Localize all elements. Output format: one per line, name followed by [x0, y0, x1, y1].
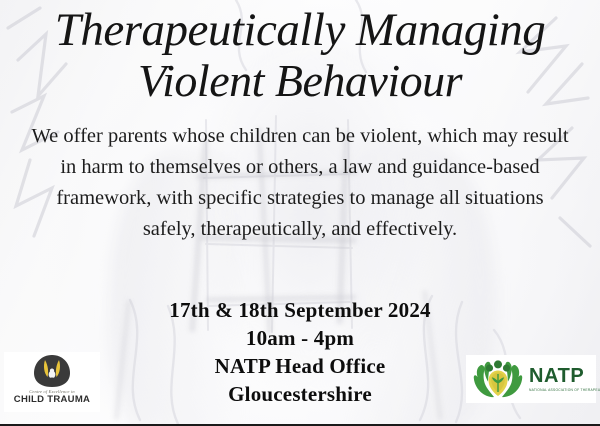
- natp-name: NATP: [529, 366, 600, 387]
- natp-text-block: NATP NATIONAL ASSOCIATION OF THERAPEUTIC…: [529, 366, 600, 393]
- title-line-2: Violent Behaviour: [0, 56, 600, 106]
- title-line-1: Therapeutically Managing: [0, 4, 600, 56]
- poster-title: Therapeutically Managing Violent Behavio…: [0, 4, 600, 106]
- logo-child-trauma: Centre of Excellence in CHILD TRAUMA: [4, 352, 100, 412]
- event-time: 10am - 4pm: [0, 324, 600, 352]
- event-date: 17th & 18th September 2024: [0, 296, 600, 324]
- poster-body-text: We offer parents whose children can be v…: [30, 121, 570, 245]
- child-trauma-name: CHILD TRAUMA: [14, 394, 90, 405]
- child-trauma-mark-icon: [32, 354, 72, 388]
- poster-canvas: Therapeutically Managing Violent Behavio…: [0, 0, 600, 426]
- logo-natp: NATP NATIONAL ASSOCIATION OF THERAPEUTIC…: [466, 355, 596, 403]
- natp-hands-mark-icon: [472, 358, 524, 400]
- poster-content: Therapeutically Managing Violent Behavio…: [0, 0, 600, 426]
- natp-tagline: NATIONAL ASSOCIATION OF THERAPEUTIC PARE…: [529, 388, 600, 393]
